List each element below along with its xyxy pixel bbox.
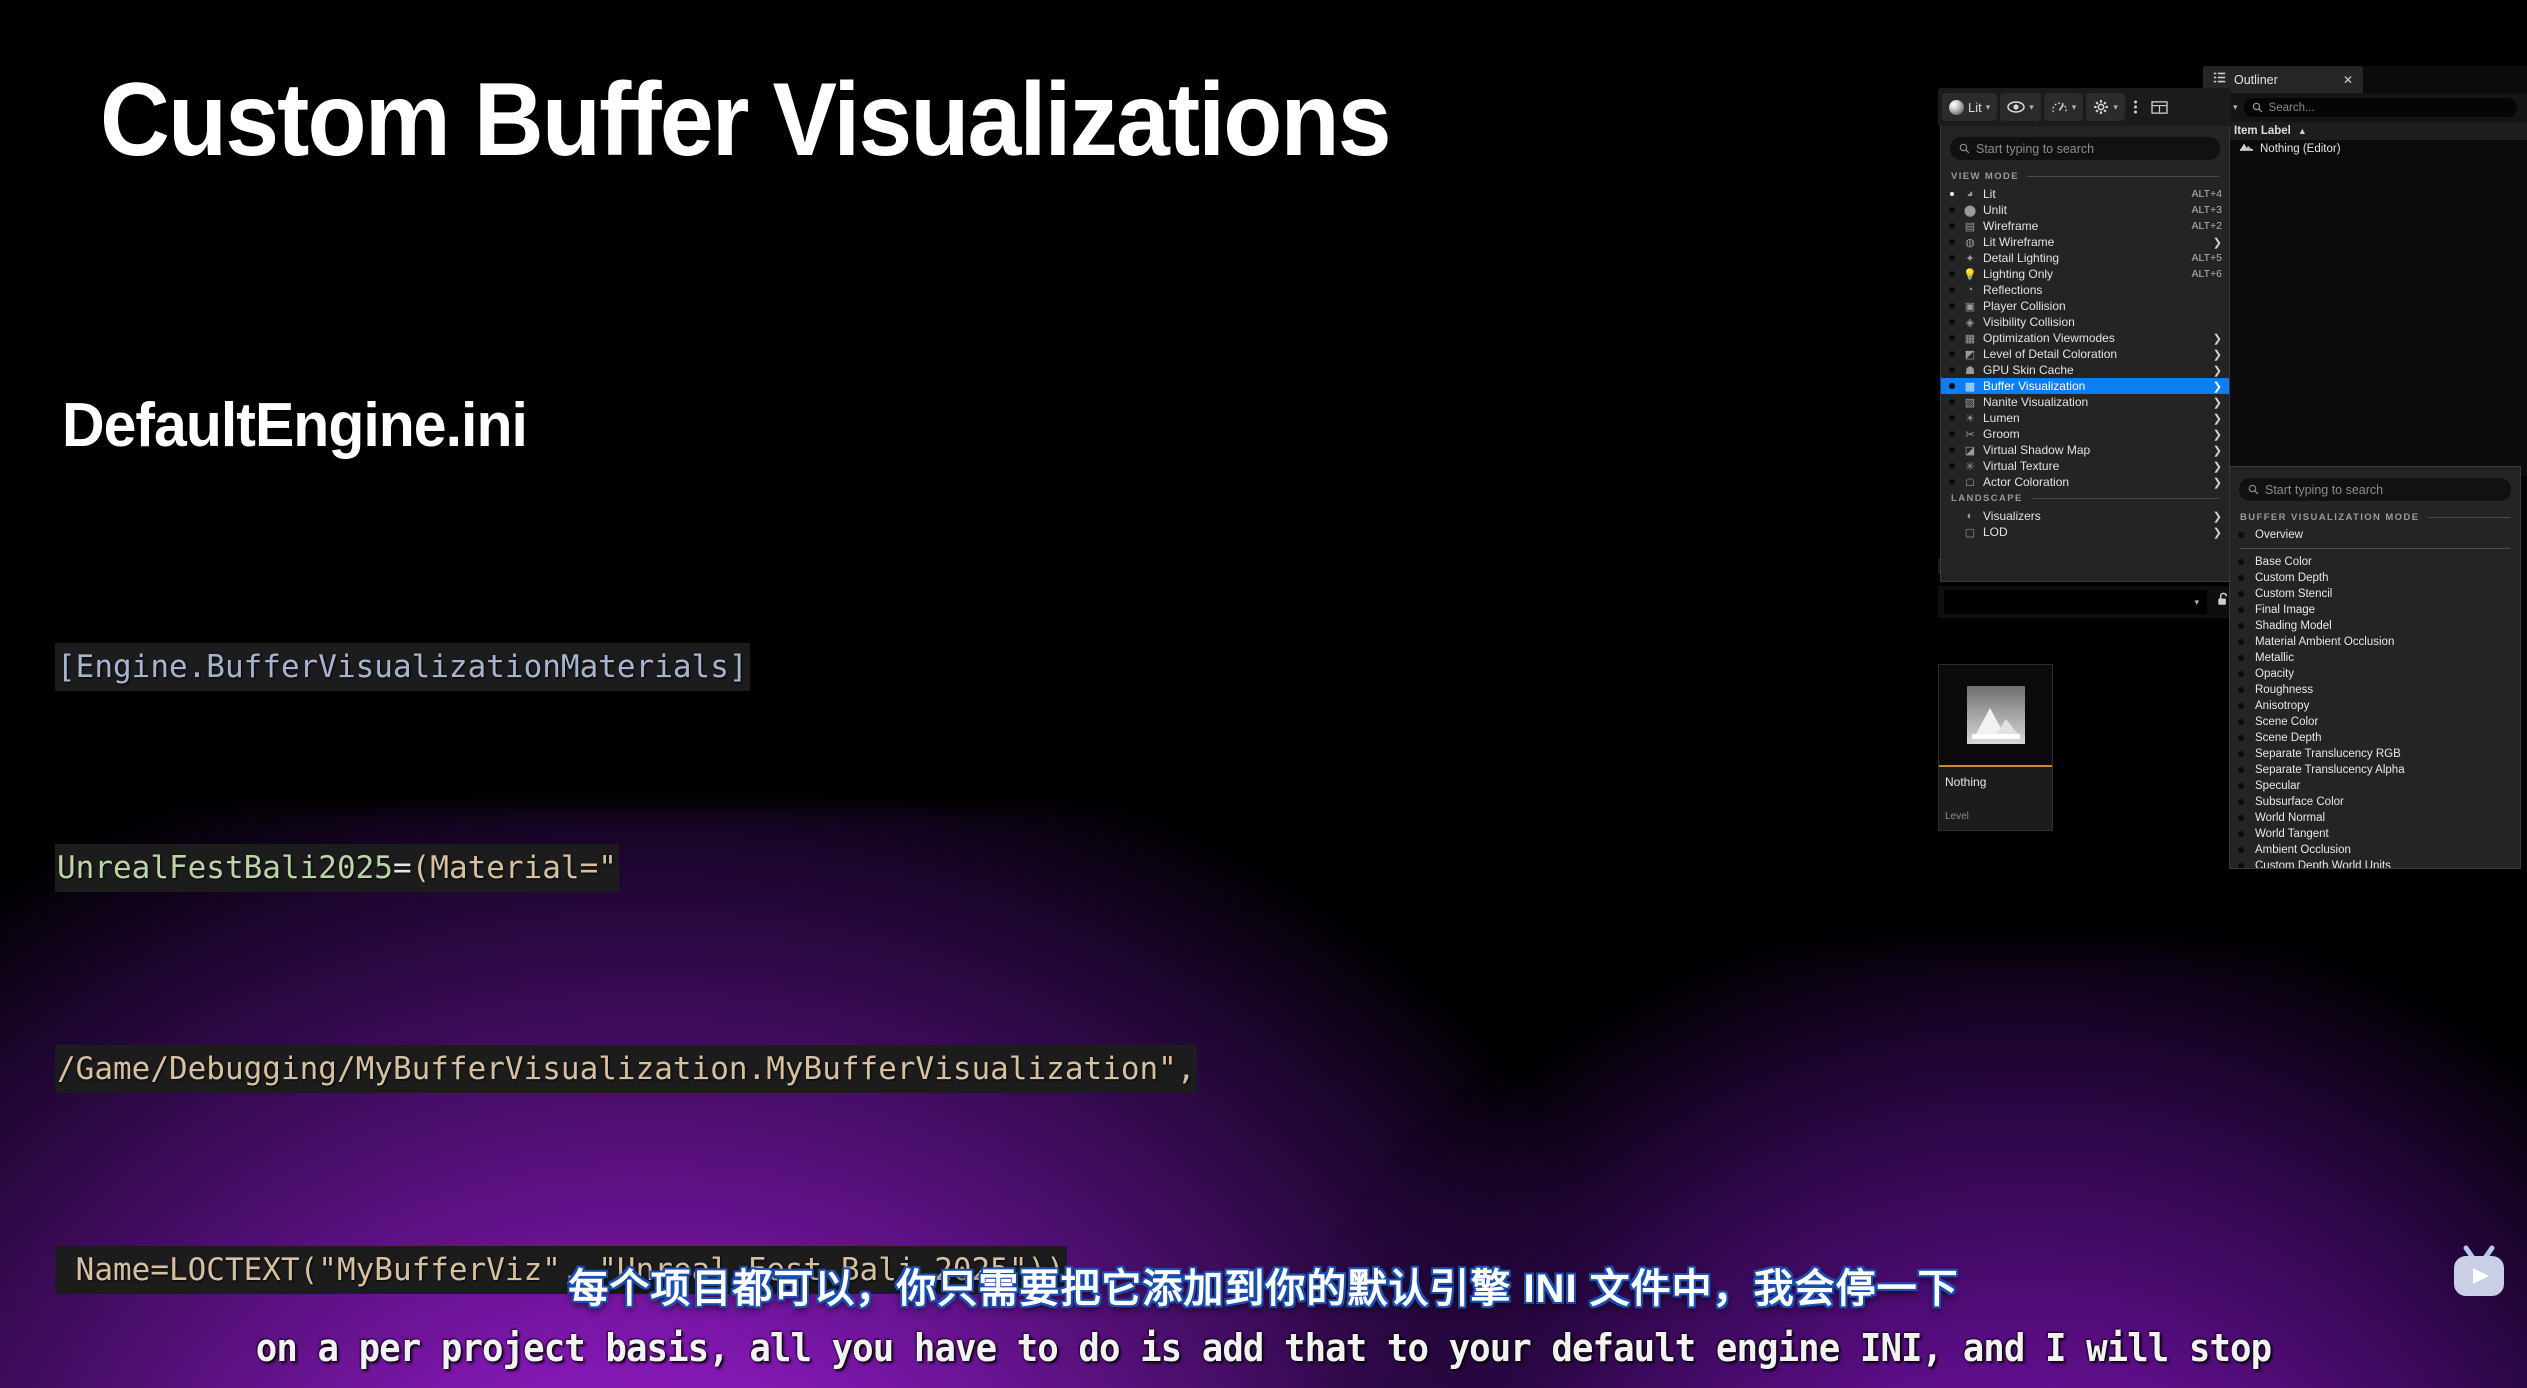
radio-icon: [1949, 223, 1955, 229]
bufferviz-section-header: BUFFER VISUALIZATION MODE: [2230, 509, 2520, 527]
viewmode-item-label: Nanite Visualization: [1983, 395, 2207, 409]
show-flags-button[interactable]: ▾: [2000, 93, 2041, 121]
chevron-right-icon: ❯: [2213, 526, 2222, 539]
bufferviz-search-input[interactable]: Start typing to search: [2239, 478, 2511, 501]
radio-icon: [2238, 815, 2244, 821]
kebab-menu-icon: [2133, 99, 2138, 115]
more-options-button[interactable]: [2128, 93, 2143, 121]
radio-icon: [2238, 639, 2244, 645]
landscape-item-lod[interactable]: ▢LOD❯: [1941, 524, 2229, 540]
bufferviz-item-label: Ambient Occlusion: [2255, 844, 2351, 856]
chevron-right-icon: ❯: [2213, 348, 2222, 361]
page-title: Custom Buffer Visualizations: [100, 66, 1390, 175]
radio-icon: [2238, 591, 2244, 597]
bufferviz-item-overview[interactable]: Overview: [2230, 527, 2520, 543]
landscape-section-label: LANDSCAPE: [1951, 493, 2023, 504]
virtual-shadow-map-icon: ◪: [1963, 443, 1977, 457]
view-mode-button[interactable]: Lit ▾: [1942, 93, 1997, 121]
chevron-down-icon: ▾: [2072, 102, 2077, 113]
divider: [2427, 517, 2510, 518]
radio-icon: [1949, 463, 1955, 469]
viewmode-item-label: Lit: [1983, 187, 2184, 201]
sort-ascending-icon[interactable]: ▲: [2298, 126, 2307, 136]
radio-icon: [2238, 607, 2244, 613]
asset-combo-row: ▾: [1938, 586, 2238, 618]
divider: [2027, 176, 2219, 177]
radio-icon: [1949, 287, 1955, 293]
bufferviz-item-list: Base ColorCustom DepthCustom StencilFina…: [2230, 554, 2520, 869]
radio-icon: [2238, 703, 2244, 709]
viewmode-item-label: Wireframe: [1983, 219, 2184, 233]
radio-icon: [2238, 687, 2244, 693]
viewmode-item-reflections[interactable]: ◔Reflections: [1941, 282, 2229, 298]
close-icon[interactable]: ✕: [2343, 73, 2353, 87]
radio-icon: [1949, 239, 1955, 245]
divider: [2031, 498, 2219, 499]
radio-icon: [2238, 751, 2244, 757]
unreal-editor-overlay: Outliner ✕ ▾ Search... Item Label ▲ Noth…: [1938, 88, 2527, 1218]
bufferviz-item-label: Scene Color: [2255, 716, 2318, 728]
bufferviz-item-label: Custom Stencil: [2255, 588, 2332, 600]
gear-icon: [2093, 99, 2109, 115]
code-block: [Engine.BufferVisualizationMaterials] Un…: [55, 500, 1197, 1371]
bufferviz-item-label: Specular: [2255, 780, 2300, 792]
slide-subtitle: DefaultEngine.ini: [62, 390, 527, 461]
outliner-icon: [2213, 71, 2226, 89]
lightbulb-icon: 💡: [1963, 267, 1977, 281]
viewmode-item-level-of-detail-coloration[interactable]: ◩Level of Detail Coloration❯: [1941, 346, 2229, 362]
radio-icon: [2238, 671, 2244, 677]
viewmode-item-detail-lighting[interactable]: ✦Detail LightingALT+5: [1941, 250, 2229, 266]
viewmode-item-nanite-visualization[interactable]: ▧Nanite Visualization❯: [1941, 394, 2229, 410]
viewmode-item-label: Buffer Visualization: [1983, 379, 2207, 393]
performance-button[interactable]: ▾: [2044, 93, 2084, 121]
viewmode-item-virtual-shadow-map[interactable]: ◪Virtual Shadow Map❯: [1941, 442, 2229, 458]
chevron-down-icon: ▾: [2194, 597, 2199, 608]
bufferviz-item-custom-stencil[interactable]: Custom Stencil: [2230, 586, 2520, 602]
bufferviz-item-subsurface-color[interactable]: Subsurface Color: [2230, 794, 2520, 810]
bufferviz-item-world-normal[interactable]: World Normal: [2230, 810, 2520, 826]
radio-icon: [1949, 479, 1955, 485]
viewmode-item-player-collision[interactable]: ▣Player Collision: [1941, 298, 2229, 314]
search-icon: [2252, 102, 2263, 113]
radio-icon: [1949, 271, 1955, 277]
viewmode-item-shortcut: ALT+4: [2192, 188, 2222, 200]
chevron-right-icon: ❯: [2213, 428, 2222, 441]
code-line-3: /Game/Debugging/MyBufferVisualization.My…: [55, 1036, 1197, 1103]
layout-button[interactable]: [2146, 93, 2173, 121]
chevron-down-icon[interactable]: ▾: [2233, 102, 2238, 113]
viewmode-item-shortcut: ALT+3: [2192, 204, 2222, 216]
chevron-right-icon: ❯: [2213, 510, 2222, 523]
viewmode-item-visibility-collision[interactable]: ◈Visibility Collision: [1941, 314, 2229, 330]
radio-icon: [1949, 303, 1955, 309]
asset-combo-box[interactable]: ▾: [1944, 590, 2207, 614]
viewmode-item-label: Reflections: [1983, 283, 2222, 297]
viewmode-item-wireframe[interactable]: ▤WireframeALT+2: [1941, 218, 2229, 234]
bufferviz-item-scene-color[interactable]: Scene Color: [2230, 714, 2520, 730]
bufferviz-item-metallic[interactable]: Metallic: [2230, 650, 2520, 666]
viewmode-item-label: Unlit: [1983, 203, 2184, 217]
radio-icon: [2238, 783, 2244, 789]
viewmode-item-unlit[interactable]: ⬤UnlitALT+3: [1941, 202, 2229, 218]
viewmode-item-label: Virtual Texture: [1983, 459, 2207, 473]
detail-lighting-icon: ✦: [1963, 251, 1977, 265]
radio-icon: [1949, 415, 1955, 421]
bufferviz-item-label: Anisotropy: [2255, 700, 2309, 712]
list-item-label: Nothing (Editor): [2260, 143, 2341, 155]
viewmode-item-shortcut: ALT+5: [2192, 252, 2222, 264]
bufferviz-item-base-color[interactable]: Base Color: [2230, 554, 2520, 570]
viewmode-item-gpu-skin-cache[interactable]: ☗GPU Skin Cache❯: [1941, 362, 2229, 378]
landscape-item-label: Visualizers: [1983, 509, 2207, 523]
bufferviz-item-label: Custom Depth World Units: [2255, 860, 2391, 869]
list-item[interactable]: Nothing (Editor): [2203, 140, 2527, 158]
viewmode-item-shortcut: ALT+2: [2192, 220, 2222, 232]
viewport-settings-button[interactable]: ▾: [2086, 93, 2125, 121]
viewmode-item-label: Actor Coloration: [1983, 475, 2207, 489]
radio-icon: [1949, 351, 1955, 357]
subtitle-english: on a per project basis, all you have to …: [76, 1326, 2451, 1370]
bufferviz-item-label: Final Image: [2255, 604, 2315, 616]
level-icon: [2240, 142, 2253, 156]
bufferviz-item-separate-translucency-alpha[interactable]: Separate Translucency Alpha: [2230, 762, 2520, 778]
radio-icon: [1949, 431, 1955, 437]
view-mode-menu: Start typing to search VIEW MODE ◕LitALT…: [1940, 126, 2230, 582]
lod-icon: ▢: [1963, 525, 1977, 539]
radio-icon: [1949, 383, 1955, 389]
gpu-skin-cache-icon: ☗: [1963, 363, 1977, 377]
bufferviz-item-anisotropy[interactable]: Anisotropy: [2230, 698, 2520, 714]
viewmode-item-lit-wireframe[interactable]: ◍Lit Wireframe❯: [1941, 234, 2229, 250]
radio-icon: [1949, 447, 1955, 453]
radio-icon: [2238, 532, 2244, 538]
viewmode-item-label: Visibility Collision: [1983, 315, 2222, 329]
subtitle-chinese: 每个项目都可以，你只需要把它添加到你的默认引擎 INI 文件中，我会停一下: [0, 1256, 2527, 1314]
outliner-panel: Outliner ✕ ▾ Search... Item Label ▲ Noth…: [2203, 66, 2527, 476]
radio-icon: [2238, 719, 2244, 725]
radio-icon: [1949, 367, 1955, 373]
viewmode-item-groom[interactable]: ✂Groom❯: [1941, 426, 2229, 442]
bufferviz-item-label: Overview: [2255, 529, 2303, 541]
viewmode-item-actor-coloration[interactable]: ☖Actor Coloration❯: [1941, 474, 2229, 490]
chevron-right-icon: ❯: [2213, 444, 2222, 457]
virtual-texture-icon: ✳: [1963, 459, 1977, 473]
radio-icon: [2238, 735, 2244, 741]
bufferviz-item-final-image[interactable]: Final Image: [2230, 602, 2520, 618]
player-collision-icon: ▣: [1963, 299, 1977, 313]
code-var: UnrealFestBali2025: [57, 850, 393, 886]
landscape-item-list: ◐Visualizers❯▢LOD❯: [1941, 508, 2229, 540]
divider: [2240, 548, 2510, 549]
lit-sphere-icon: [1949, 100, 1964, 115]
radio-icon: [1949, 191, 1955, 197]
radio-icon: [1949, 399, 1955, 405]
viewmode-item-lumen[interactable]: ☀Lumen❯: [1941, 410, 2229, 426]
chevron-down-icon: ▾: [1986, 102, 1991, 113]
asset-tile[interactable]: Nothing Level: [1938, 664, 2053, 831]
unlit-sphere-icon: ⬤: [1963, 203, 1977, 217]
radio-icon: [2238, 559, 2244, 565]
radio-icon: [1949, 335, 1955, 341]
image-placeholder-icon: [1967, 686, 2025, 744]
outliner-toolbar: ▾ Search...: [2203, 93, 2527, 122]
landscape-item-visualizers[interactable]: ◐Visualizers❯: [1941, 508, 2229, 524]
search-icon: [2248, 484, 2259, 495]
reflections-icon: ◔: [1963, 283, 1977, 297]
bufferviz-item-label: Opacity: [2255, 668, 2294, 680]
viewmode-item-label: Player Collision: [1983, 299, 2222, 313]
chevron-right-icon: ❯: [2213, 380, 2222, 393]
viewmode-item-shortcut: ALT+6: [2192, 268, 2222, 280]
subtitle-block: 每个项目都可以，你只需要把它添加到你的默认引擎 INI 文件中，我会停一下 on…: [0, 1256, 2527, 1370]
bufferviz-item-label: World Normal: [2255, 812, 2325, 824]
speedometer-icon: [2051, 100, 2068, 115]
bufferviz-item-label: Material Ambient Occlusion: [2255, 636, 2394, 648]
viewmode-item-label: GPU Skin Cache: [1983, 363, 2207, 377]
view-mode-label: Lit: [1968, 100, 1982, 115]
bufferviz-item-label: Separate Translucency RGB: [2255, 748, 2401, 760]
bilibili-play-icon[interactable]: [2447, 1244, 2511, 1302]
optimization-icon: ▦: [1963, 331, 1977, 345]
bufferviz-item-label: Shading Model: [2255, 620, 2332, 632]
bufferviz-item-separate-translucency-rgb[interactable]: Separate Translucency RGB: [2230, 746, 2520, 762]
asset-thumbnail: [1939, 665, 2052, 765]
viewmode-search-placeholder: Start typing to search: [1976, 142, 2094, 156]
lumen-icon: ☀: [1963, 411, 1977, 425]
bufferviz-item-roughness[interactable]: Roughness: [2230, 682, 2520, 698]
lod-coloration-icon: ◩: [1963, 347, 1977, 361]
bufferviz-item-opacity[interactable]: Opacity: [2230, 666, 2520, 682]
chevron-right-icon: ❯: [2213, 460, 2222, 473]
bufferviz-item-label: Roughness: [2255, 684, 2313, 696]
viewmode-item-label: Lighting Only: [1983, 267, 2184, 281]
viewmode-item-label: Lit Wireframe: [1983, 235, 2207, 249]
nanite-icon: ▧: [1963, 395, 1977, 409]
lit-sphere-icon: ◕: [1963, 187, 1977, 201]
outliner-column-header[interactable]: Item Label ▲: [2203, 122, 2527, 140]
radio-icon: [2238, 863, 2244, 869]
asset-type: Level: [1939, 789, 2052, 822]
viewmode-item-optimization-viewmodes[interactable]: ▦Optimization Viewmodes❯: [1941, 330, 2229, 346]
viewmode-item-label: Optimization Viewmodes: [1983, 331, 2207, 345]
asset-name: Nothing: [1939, 767, 2052, 789]
search-icon: [1959, 143, 1970, 154]
eye-icon: [2007, 101, 2025, 113]
radio-icon: [2238, 655, 2244, 661]
radio-icon: [2238, 623, 2244, 629]
bufferviz-item-label: Custom Depth: [2255, 572, 2329, 584]
viewmode-item-label: Level of Detail Coloration: [1983, 347, 2207, 361]
viewmode-item-label: Virtual Shadow Map: [1983, 443, 2207, 457]
outliner-header-label: Item Label: [2234, 125, 2291, 137]
groom-icon: ✂: [1963, 427, 1977, 441]
search-input[interactable]: Search...: [2244, 98, 2517, 117]
bufferviz-item-shading-model[interactable]: Shading Model: [2230, 618, 2520, 634]
radio-icon: [2238, 847, 2244, 853]
viewmode-search-input[interactable]: Start typing to search: [1950, 137, 2220, 160]
code-line-1: [Engine.BufferVisualizationMaterials]: [55, 634, 1197, 701]
visibility-collision-icon: ◈: [1963, 315, 1977, 329]
grid-layout-icon: [2151, 100, 2168, 115]
chevron-right-icon: ❯: [2213, 476, 2222, 489]
bufferviz-section-label: BUFFER VISUALIZATION MODE: [2240, 512, 2419, 523]
viewmode-section-label: VIEW MODE: [1951, 171, 2019, 182]
radio-icon: [2238, 831, 2244, 837]
bufferviz-item-world-tangent[interactable]: World Tangent: [2230, 826, 2520, 842]
viewmode-item-label: Groom: [1983, 427, 2207, 441]
actor-coloration-icon: ☖: [1963, 475, 1977, 489]
viewmode-item-lighting-only[interactable]: 💡Lighting OnlyALT+6: [1941, 266, 2229, 282]
visualizers-icon: ◐: [1963, 509, 1977, 523]
bufferviz-item-specular[interactable]: Specular: [2230, 778, 2520, 794]
code-string: (Material=": [412, 850, 617, 886]
lit-wireframe-icon: ◍: [1963, 235, 1977, 249]
chevron-right-icon: ❯: [2213, 396, 2222, 409]
chevron-down-icon: ▾: [2029, 102, 2034, 113]
bufferviz-item-label: Metallic: [2255, 652, 2294, 664]
chevron-right-icon: ❯: [2213, 332, 2222, 345]
code-operator: =: [393, 850, 412, 886]
viewmode-item-label: Detail Lighting: [1983, 251, 2184, 265]
viewmode-item-virtual-texture[interactable]: ✳Virtual Texture❯: [1941, 458, 2229, 474]
bufferviz-item-label: Scene Depth: [2255, 732, 2322, 744]
radio-icon: [2238, 575, 2244, 581]
outliner-search-placeholder: Search...: [2269, 102, 2315, 114]
chevron-down-icon: ▾: [2113, 102, 2118, 113]
bufferviz-item-scene-depth[interactable]: Scene Depth: [2230, 730, 2520, 746]
code-line-2: UnrealFestBali2025=(Material=": [55, 835, 1197, 902]
wireframe-icon: ▤: [1963, 219, 1977, 233]
chevron-right-icon: ❯: [2213, 412, 2222, 425]
viewmode-item-buffer-visualization[interactable]: ▩Buffer Visualization❯: [1941, 378, 2229, 394]
landscape-section-header: LANDSCAPE: [1941, 490, 2229, 508]
buffer-visualization-menu: Start typing to search BUFFER VISUALIZAT…: [2229, 466, 2521, 869]
viewmode-item-lit[interactable]: ◕LitALT+4: [1941, 186, 2229, 202]
radio-icon: [2238, 767, 2244, 773]
viewmode-section-header: VIEW MODE: [1941, 168, 2229, 186]
outliner-tab-title: Outliner: [2234, 73, 2278, 87]
radio-icon: [1949, 207, 1955, 213]
viewmode-item-label: Lumen: [1983, 411, 2207, 425]
chevron-right-icon: ❯: [2213, 364, 2222, 377]
bufferviz-item-label: World Tangent: [2255, 828, 2329, 840]
bufferviz-item-label: Separate Translucency Alpha: [2255, 764, 2405, 776]
radio-icon: [2238, 799, 2244, 805]
viewport-toolbar: Lit ▾ ▾ ▾ ▾: [1938, 88, 2231, 126]
bufferviz-item-custom-depth[interactable]: Custom Depth: [2230, 570, 2520, 586]
chevron-right-icon: ❯: [2213, 236, 2222, 249]
bufferviz-item-label: Base Color: [2255, 556, 2312, 568]
bufferviz-item-ambient-occlusion[interactable]: Ambient Occlusion: [2230, 842, 2520, 858]
bufferviz-item-material-ambient-occlusion[interactable]: Material Ambient Occlusion: [2230, 634, 2520, 650]
landscape-item-label: LOD: [1983, 525, 2207, 539]
bufferviz-search-placeholder: Start typing to search: [2265, 483, 2383, 497]
buffer-visualization-icon: ▩: [1963, 379, 1977, 393]
view-mode-item-list: ◕LitALT+4⬤UnlitALT+3▤WireframeALT+2◍Lit …: [1941, 186, 2229, 490]
radio-icon: [1949, 255, 1955, 261]
bufferviz-item-label: Subsurface Color: [2255, 796, 2344, 808]
bufferviz-item-custom-depth-world-units[interactable]: Custom Depth World Units: [2230, 858, 2520, 869]
radio-icon: [1949, 319, 1955, 325]
